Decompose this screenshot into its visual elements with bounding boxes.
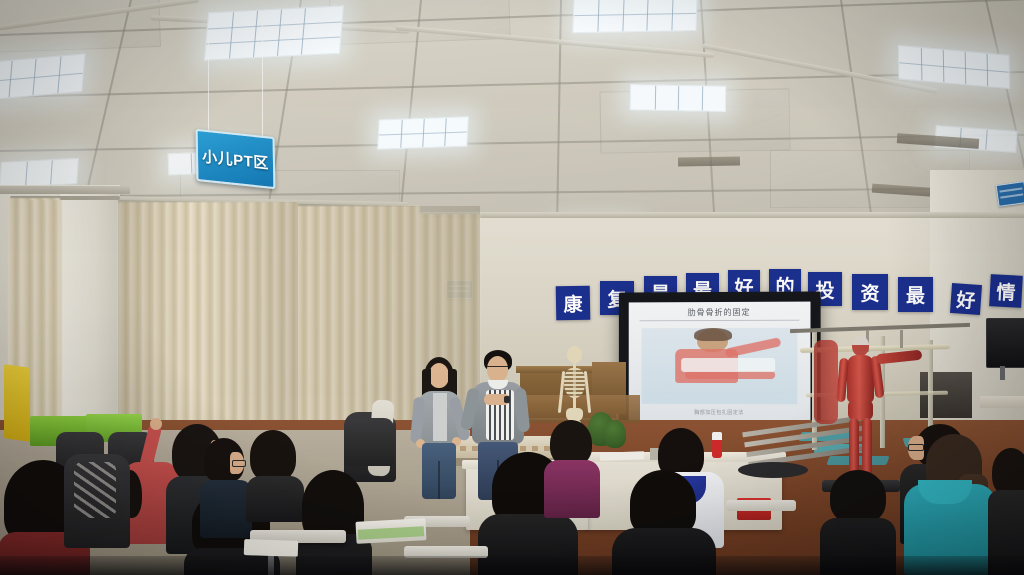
pediatric-pt-sign-label: 小儿PT区 bbox=[202, 145, 269, 173]
wall-mounted-monitor bbox=[986, 318, 1024, 368]
muscle-model-leg-left bbox=[849, 418, 859, 478]
foreground-silhouette-band bbox=[0, 556, 1024, 575]
banner-char: 情 bbox=[989, 274, 1023, 308]
structural-column bbox=[60, 190, 118, 440]
slide-photo-chest-wrap bbox=[682, 358, 776, 372]
chair-tablet-arm bbox=[726, 500, 796, 511]
banner-char: 最 bbox=[898, 277, 933, 312]
slide-caption: 胸部加压包扎固定法 bbox=[647, 409, 792, 417]
suspension-strap bbox=[900, 330, 903, 348]
ceiling-light-fixture bbox=[898, 45, 1010, 89]
projection-screen-surface: 肋骨骨折的固定 胸部加压包扎固定法 7/30 bbox=[629, 302, 811, 431]
banner-char: 好 bbox=[950, 283, 982, 315]
yellow-mat bbox=[4, 364, 30, 442]
right-wall-sign bbox=[996, 181, 1024, 207]
presenter-male-glasses bbox=[487, 366, 508, 371]
attendee-child bbox=[200, 438, 252, 538]
ceiling-light-fixture bbox=[204, 5, 344, 60]
right-desk bbox=[980, 396, 1024, 408]
muscle-model-hips bbox=[848, 400, 873, 420]
counter-papers bbox=[600, 451, 644, 461]
jacket-pattern bbox=[74, 462, 116, 518]
sign-suspension-wire-right bbox=[262, 20, 263, 145]
slide-title: 肋骨骨折的固定 bbox=[639, 307, 799, 322]
presenter-male-watch bbox=[504, 396, 510, 403]
pediatric-pt-sign: 小儿PT区 bbox=[196, 129, 276, 189]
attendee-hair bbox=[250, 430, 296, 482]
presenter-female bbox=[408, 357, 470, 499]
presenter-female-leg-split bbox=[438, 461, 440, 499]
attendee-torso bbox=[200, 480, 252, 538]
presenter-female-head bbox=[429, 363, 449, 388]
skeleton-arm-left bbox=[558, 371, 565, 413]
potted-plant-right bbox=[604, 420, 626, 448]
attendee-patterned-jacket bbox=[64, 438, 130, 548]
slide-photo bbox=[641, 327, 797, 404]
slide-photo-hair bbox=[694, 328, 731, 341]
ceiling-light-fixture bbox=[377, 116, 469, 149]
muscle-model-leg-right bbox=[862, 418, 872, 478]
skeleton-skull bbox=[567, 346, 582, 363]
handout-papers bbox=[244, 539, 299, 557]
banner-char: 资 bbox=[852, 274, 888, 310]
muscle-model-head bbox=[852, 336, 869, 356]
attendee-hair bbox=[830, 470, 886, 524]
ceiling-light-fixture bbox=[630, 84, 726, 112]
sign-suspension-wire-left bbox=[208, 40, 209, 140]
raised-hand bbox=[150, 418, 162, 430]
attendee-hair bbox=[992, 448, 1024, 496]
ceiling-soffit-edge bbox=[0, 186, 130, 194]
hanging-area-sign: 小儿PT区 bbox=[196, 133, 276, 195]
attendee-glasses bbox=[232, 460, 246, 467]
attendee-turquoise-jacket bbox=[904, 434, 996, 575]
skeleton-ribcage bbox=[564, 368, 585, 398]
classroom-photo-scene: 小儿PT区 康 复 是 最 好 的 投 资 最 好 情 bbox=[0, 0, 1024, 575]
attendee-torso bbox=[544, 460, 600, 518]
ceiling-soffit-edge-back bbox=[390, 212, 1024, 218]
monitor-bracket bbox=[1000, 366, 1005, 380]
muscle-model-torso bbox=[847, 355, 874, 403]
presenter-female-inner-top bbox=[433, 393, 447, 441]
banner-char: 康 bbox=[556, 286, 591, 321]
skeleton-arm-right bbox=[584, 371, 591, 413]
muscle-model-secondary bbox=[814, 340, 838, 424]
ceiling-light-fixture bbox=[0, 158, 79, 188]
curtain-shadow bbox=[118, 202, 298, 452]
attendee-torso bbox=[246, 476, 304, 522]
projection-screen: 肋骨骨折的固定 胸部加压包扎固定法 7/30 bbox=[619, 291, 821, 440]
slide-photo-raised-arm bbox=[725, 337, 782, 358]
ceiling-light-fixture bbox=[572, 0, 697, 33]
chair-back bbox=[344, 418, 394, 466]
equipment-base-plate bbox=[738, 462, 808, 478]
attendee-magenta bbox=[544, 420, 600, 515]
attendee-left-mid bbox=[246, 430, 304, 520]
